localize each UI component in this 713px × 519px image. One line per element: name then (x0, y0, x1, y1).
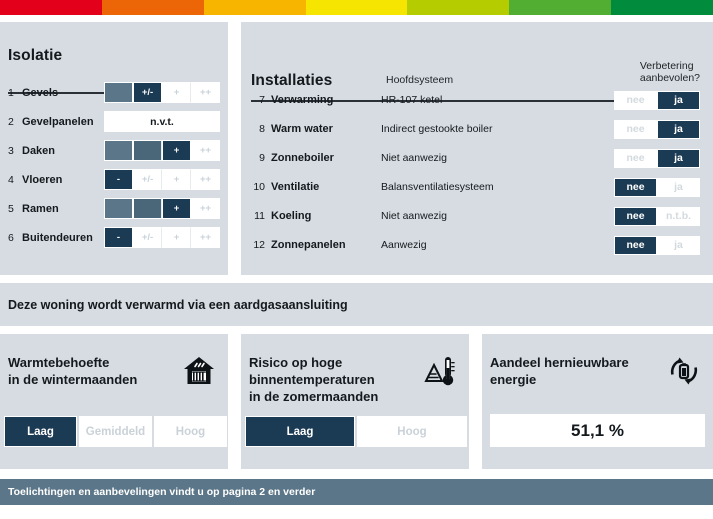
isolatie-rating-cell[interactable]: ++ (191, 82, 220, 103)
warmtebehoefte-option[interactable]: Hoog (154, 416, 227, 447)
isolatie-row-label: Vloeren (22, 174, 104, 186)
isolatie-rating-cell[interactable]: ++ (191, 140, 220, 161)
isolatie-row: 6Buitendeuren-+/-+++ (8, 227, 220, 248)
isolatie-rating-cell[interactable]: + (162, 169, 191, 190)
isolatie-rating-cell[interactable]: - (104, 169, 133, 190)
energy-label-page: Isolatie 1Gevels-+/-+++2Gevelpanelenn.v.… (0, 0, 713, 519)
isolatie-rating-cell[interactable]: +/- (133, 140, 162, 161)
footer-bar: Toelichtingen en aanbevelingen vindt u o… (0, 479, 713, 505)
risico-option[interactable]: Hoog (357, 416, 467, 447)
risico-title-line2: binnentemperaturen (249, 371, 378, 388)
verbetering-option-ja[interactable]: ja (657, 149, 700, 168)
verbetering-toggle-group[interactable]: neen.t.b. (614, 207, 700, 226)
column-header-verbetering-line1: Verbetering (640, 60, 700, 72)
isolatie-not-applicable: n.v.t. (104, 111, 220, 132)
verbetering-option-ja[interactable]: ja (657, 178, 700, 197)
column-header-verbetering-line2: aanbevolen? (640, 72, 700, 84)
risico-title: Risico op hoge binnentemperaturen in de … (249, 354, 378, 405)
risico-choices: LaagHoog (245, 416, 467, 447)
energy-segment-label-c (204, 0, 306, 15)
installaties-row-system: Balansventilatiesysteem (381, 181, 614, 193)
isolatie-rating-bar[interactable]: -+/-+++ (104, 198, 220, 219)
installaties-row: 12ZonnepanelenAanwezigneeja (251, 234, 700, 256)
warmtebehoefte-option[interactable]: Gemiddeld (79, 416, 152, 447)
verbetering-toggle-group[interactable]: neeja (614, 149, 700, 168)
isolatie-row-label: Buitendeuren (22, 232, 104, 244)
isolatie-row-number: 6 (8, 232, 22, 244)
installaties-row-number: 8 (251, 123, 271, 135)
isolatie-row: 1Gevels-+/-+++ (8, 82, 220, 103)
warmtebehoefte-title-line1: Warmtebehoefte (8, 354, 137, 371)
installaties-row: 11KoelingNiet aanwezigneen.t.b. (251, 205, 700, 227)
verbetering-option-nee[interactable]: nee (614, 236, 657, 255)
energy-segment-label-a (0, 0, 102, 15)
installaties-panel: Installaties Hoofdsysteem Verbetering aa… (241, 22, 713, 275)
isolatie-rating-cell[interactable]: +/- (133, 82, 162, 103)
warmtebehoefte-title-line2: in de wintermaanden (8, 371, 137, 388)
isolatie-rating-bar[interactable]: -+/-+++ (104, 169, 220, 190)
isolatie-rating-cell[interactable]: ++ (191, 227, 220, 248)
hernieuwbare-energie-title: Aandeel hernieuwbare energie (490, 354, 629, 388)
installaties-row: 9ZonneboilerNiet aanwezigneeja (251, 147, 700, 169)
hernieuwbare-energie-title-line1: Aandeel hernieuwbare (490, 354, 629, 371)
isolatie-row: 2Gevelpanelenn.v.t. (8, 111, 220, 132)
renewable-cycle-icon (667, 354, 701, 388)
installaties-row-label: Verwarming (271, 94, 381, 106)
verbetering-option-nee[interactable]: nee (614, 178, 657, 197)
verbetering-option-nee[interactable]: nee (614, 120, 657, 139)
gas-connection-banner: Deze woning wordt verwarmd via een aardg… (0, 283, 713, 326)
verbetering-toggle-group[interactable]: neeja (614, 178, 700, 197)
installaties-row-label: Ventilatie (271, 181, 381, 193)
verbetering-option-ja[interactable]: ja (657, 120, 700, 139)
risico-option[interactable]: Laag (245, 416, 355, 447)
thermometer-sun-icon (423, 354, 457, 388)
isolatie-rating-cell[interactable]: +/- (133, 227, 162, 248)
isolatie-rating-cell[interactable]: - (104, 227, 133, 248)
energy-segment-label-d (306, 0, 408, 15)
installaties-row-number: 10 (251, 181, 271, 193)
isolatie-rating-cell[interactable]: +/- (133, 169, 162, 190)
isolatie-rating-cell[interactable]: + (162, 198, 191, 219)
energy-class-strip (0, 0, 713, 15)
installaties-row-label: Koeling (271, 210, 381, 222)
isolatie-row-label: Daken (22, 145, 104, 157)
verbetering-toggle-group[interactable]: neeja (614, 120, 700, 139)
isolatie-panel: Isolatie 1Gevels-+/-+++2Gevelpanelenn.v.… (0, 22, 228, 275)
installaties-title: Installaties (251, 72, 332, 90)
risico-title-line1: Risico op hoge (249, 354, 378, 371)
isolatie-rating-cell[interactable]: + (162, 82, 191, 103)
installaties-row-number: 11 (251, 210, 271, 222)
isolatie-row-number: 4 (8, 174, 22, 186)
installaties-row: 8Warm waterIndirect gestookte boilerneej… (251, 118, 700, 140)
isolatie-rating-bar[interactable]: -+/-+++ (104, 227, 220, 248)
installaties-row-system: Aanwezig (381, 239, 614, 251)
verbetering-toggle-group[interactable]: neeja (614, 236, 700, 255)
installaties-row-system: Indirect gestookte boiler (381, 123, 614, 135)
risico-card: Risico op hoge binnentemperaturen in de … (241, 334, 469, 469)
isolatie-rating-cell[interactable]: + (162, 227, 191, 248)
isolatie-rating-cell[interactable]: +/- (133, 198, 162, 219)
energy-segment-label-f (509, 0, 611, 15)
isolatie-rating-cell[interactable]: - (104, 140, 133, 161)
house-radiator-icon (182, 354, 216, 388)
isolatie-rating-cell[interactable]: ++ (191, 198, 220, 219)
verbetering-option-nee[interactable]: nee (614, 91, 657, 110)
installaties-row: 7VerwarmingHR-107 ketelneeja (251, 89, 700, 111)
installaties-row-label: Zonneboiler (271, 152, 381, 164)
installaties-row-label: Zonnepanelen (271, 239, 381, 251)
warmtebehoefte-card: Warmtebehoefte in de wintermaanden (0, 334, 228, 469)
isolatie-rating-cell[interactable]: - (104, 82, 133, 103)
isolatie-row: 4Vloeren-+/-+++ (8, 169, 220, 190)
verbetering-toggle-group[interactable]: neeja (614, 91, 700, 110)
verbetering-option-ja[interactable]: ja (657, 236, 700, 255)
isolatie-row: 3Daken-+/-+++ (8, 140, 220, 161)
isolatie-rating-cell[interactable]: + (162, 140, 191, 161)
energy-segment-label-b (102, 0, 204, 15)
warmtebehoefte-choices: LaagGemiddeldHoog (4, 416, 227, 447)
installaties-row-system: HR-107 ketel (381, 94, 614, 106)
isolatie-row-label: Gevelpanelen (22, 116, 104, 128)
isolatie-row-number: 1 (8, 87, 22, 99)
warmtebehoefte-title: Warmtebehoefte in de wintermaanden (8, 354, 137, 388)
isolatie-rating-bar[interactable]: -+/-+++ (104, 82, 220, 103)
installaties-row-number: 12 (251, 239, 271, 251)
isolatie-row-label: Ramen (22, 203, 104, 215)
isolatie-row-label: Gevels (22, 87, 104, 99)
isolatie-title: Isolatie (8, 47, 62, 65)
verbetering-option-nee[interactable]: nee (614, 207, 657, 226)
verbetering-option-nee[interactable]: nee (614, 149, 657, 168)
isolatie-rating-bar[interactable]: -+/-+++ (104, 140, 220, 161)
energy-segment-label-g (611, 0, 713, 15)
gas-connection-text: Deze woning wordt verwarmd via een aardg… (8, 298, 348, 312)
installaties-row-number: 9 (251, 152, 271, 164)
installaties-row-system: Niet aanwezig (381, 210, 614, 222)
installaties-row: 10VentilatieBalansventilatiesysteemneeja (251, 176, 700, 198)
verbetering-option-ja[interactable]: n.t.b. (657, 207, 700, 226)
footer-text: Toelichtingen en aanbevelingen vindt u o… (8, 486, 315, 498)
installaties-row-label: Warm water (271, 123, 381, 135)
hernieuwbare-energie-title-line2: energie (490, 371, 629, 388)
hernieuwbare-energie-value: 51,1 % (490, 414, 705, 447)
isolatie-rating-cell[interactable]: ++ (191, 169, 220, 190)
risico-title-line3: in de zomermaanden (249, 388, 378, 405)
column-header-hoofdsysteem: Hoofdsysteem (386, 74, 453, 86)
isolatie-row-number: 3 (8, 145, 22, 157)
installaties-row-number: 7 (251, 94, 271, 106)
installaties-row-system: Niet aanwezig (381, 152, 614, 164)
hernieuwbare-energie-card: Aandeel hernieuwbare energie 51,1 % (482, 334, 713, 469)
isolatie-row: 5Ramen-+/-+++ (8, 198, 220, 219)
isolatie-rating-cell[interactable]: - (104, 198, 133, 219)
verbetering-option-ja[interactable]: ja (657, 91, 700, 110)
column-header-verbetering: Verbetering aanbevolen? (640, 60, 700, 84)
warmtebehoefte-option[interactable]: Laag (4, 416, 77, 447)
energy-segment-label-e (407, 0, 509, 15)
isolatie-row-number: 5 (8, 203, 22, 215)
isolatie-row-number: 2 (8, 116, 22, 128)
